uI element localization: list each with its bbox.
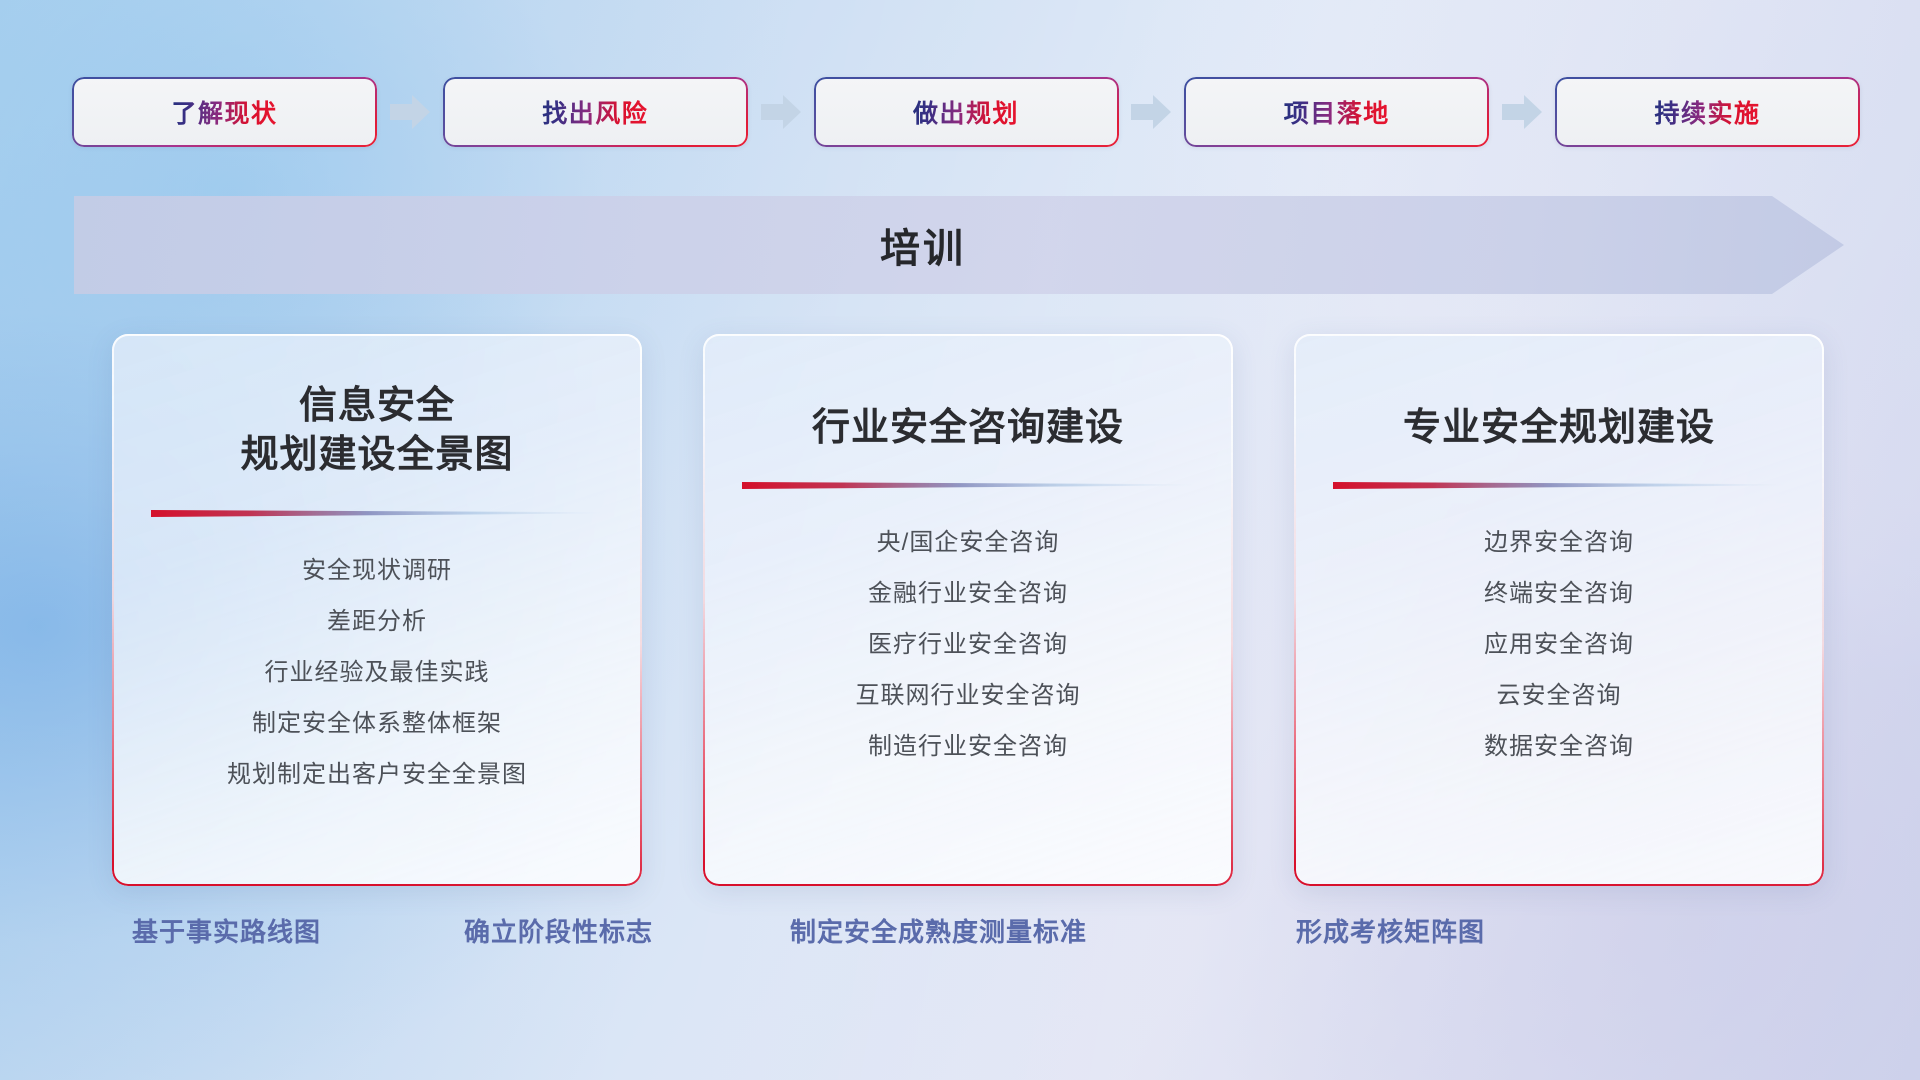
card-industry-security-consulting[interactable]: 行业安全咨询建设 xyxy=(703,334,1233,886)
step-label: 找出风险 xyxy=(542,94,648,130)
right-arrow-icon xyxy=(761,95,801,129)
list-item: 云安全咨询 xyxy=(1497,670,1622,721)
step-chip-2[interactable]: 找出风险 xyxy=(443,77,748,147)
list-item: 行业经验及最佳实践 xyxy=(265,647,490,698)
step-chip-3[interactable]: 做出规划 xyxy=(814,77,1119,147)
banner-title: 培训 xyxy=(74,196,1844,294)
list-item: 医疗行业安全咨询 xyxy=(868,619,1068,670)
list-item: 互联网行业安全咨询 xyxy=(856,670,1081,721)
footer-caption-row: 基于事实路线图 确立阶段性标志 制定安全成熟度测量标准 形成考核矩阵图 xyxy=(0,912,1920,962)
card-item-list: 安全现状调研 差距分析 行业经验及最佳实践 制定安全体系整体框架 规划制定出客户… xyxy=(138,545,616,800)
caption-assessment-matrix: 形成考核矩阵图 xyxy=(1296,912,1485,949)
card-title: 行业安全咨询建设 xyxy=(812,404,1124,453)
card-divider xyxy=(742,479,1194,491)
list-item: 边界安全咨询 xyxy=(1484,517,1634,568)
training-banner: 培训 xyxy=(74,196,1844,294)
step-label: 了解现状 xyxy=(171,94,277,130)
step-chip-4[interactable]: 项目落地 xyxy=(1184,77,1489,147)
list-item: 应用安全咨询 xyxy=(1484,619,1634,670)
right-arrow-icon xyxy=(1131,95,1171,129)
card-divider xyxy=(151,507,603,519)
step-chip-5[interactable]: 持续实施 xyxy=(1555,77,1860,147)
list-item: 安全现状调研 xyxy=(302,545,452,596)
list-item: 终端安全咨询 xyxy=(1484,568,1634,619)
list-item: 金融行业安全咨询 xyxy=(868,568,1068,619)
list-item: 央/国企安全咨询 xyxy=(877,517,1060,568)
caption-maturity-standard: 制定安全成熟度测量标准 xyxy=(790,912,1087,949)
list-item: 规划制定出客户安全全景图 xyxy=(227,749,527,800)
card-title: 专业安全规划建设 xyxy=(1403,404,1715,453)
card-professional-security-planning[interactable]: 专业安全规划建设 xyxy=(1294,334,1824,886)
right-arrow-icon xyxy=(390,95,430,129)
list-item: 差距分析 xyxy=(327,596,427,647)
step-label: 项目落地 xyxy=(1284,94,1390,130)
process-step-row: 了解现状 找出风险 做出规划 项目落地 xyxy=(72,76,1860,148)
card-divider xyxy=(1333,479,1785,491)
step-chip-1[interactable]: 了解现状 xyxy=(72,77,377,147)
step-label: 持续实施 xyxy=(1654,94,1760,130)
caption-fact-based-roadmap: 基于事实路线图 xyxy=(132,912,321,949)
card-row: 信息安全 规划建设全景图 xyxy=(112,334,1824,886)
card-title: 信息安全 规划建设全景图 xyxy=(240,382,513,481)
card-item-list: 边界安全咨询 终端安全咨询 应用安全咨询 云安全咨询 数据安全咨询 xyxy=(1320,517,1798,772)
card-information-security-blueprint[interactable]: 信息安全 规划建设全景图 xyxy=(112,334,642,886)
list-item: 制定安全体系整体框架 xyxy=(252,698,502,749)
step-label: 做出规划 xyxy=(913,94,1019,130)
list-item: 制造行业安全咨询 xyxy=(868,721,1068,772)
list-item: 数据安全咨询 xyxy=(1484,721,1634,772)
caption-phase-milestones: 确立阶段性标志 xyxy=(464,912,653,949)
card-item-list: 央/国企安全咨询 金融行业安全咨询 医疗行业安全咨询 互联网行业安全咨询 制造行… xyxy=(729,517,1207,772)
slide-canvas: 了解现状 找出风险 做出规划 项目落地 xyxy=(0,0,1920,1080)
right-arrow-icon xyxy=(1502,95,1542,129)
